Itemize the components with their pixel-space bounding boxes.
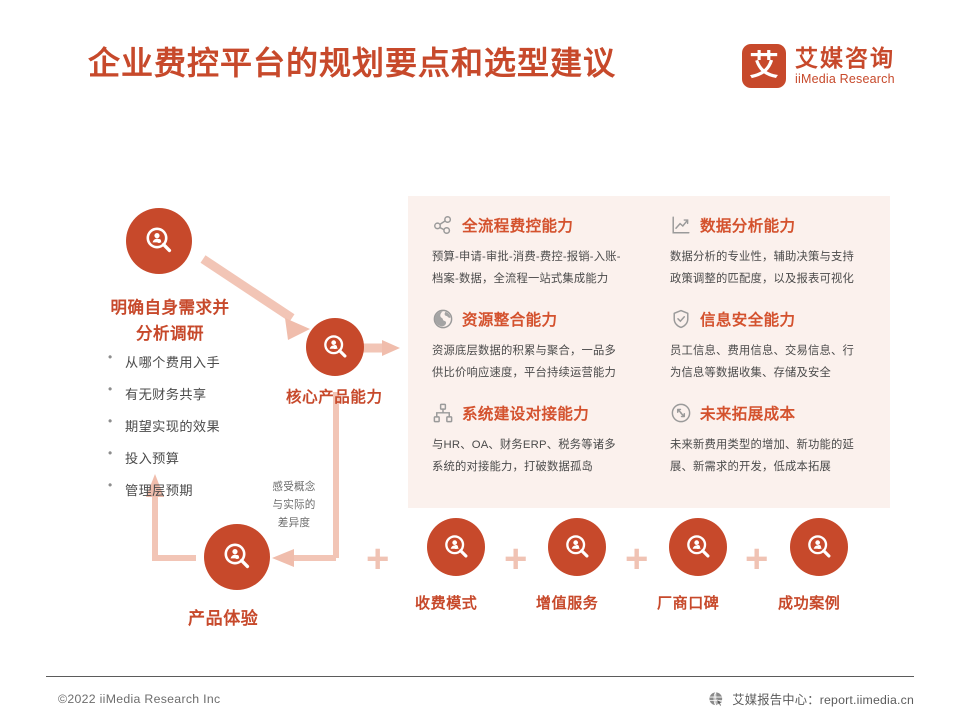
capability-body: 数据分析的专业性，辅助决策与支持 政策调整的匹配度，以及报表可视化	[670, 246, 888, 290]
list-item: 从哪个费用入手	[108, 352, 220, 371]
plus-separator-1: +	[366, 539, 389, 579]
footer-report-center[interactable]: 艾媒报告中心：report.iimedia.cn	[708, 690, 914, 708]
define-requirements-title: 明确自身需求并 分析调研	[72, 296, 268, 347]
magnifier-person-icon	[684, 533, 713, 562]
capability-body-line1: 未来新费用类型的增加、新功能的延	[670, 439, 854, 451]
logo-name-en: iiMedia Research	[795, 72, 895, 87]
node-label: 成功案例	[778, 592, 836, 613]
capability-body-line1: 数据分析的专业性，辅助决策与支持	[670, 251, 854, 263]
capability-body-line2: 系统的对接能力，打破数据孤岛	[432, 461, 593, 473]
capability-card-resource-integration: 资源整合能力 资源底层数据的积累与聚合，一品多 供比价响应速度，平台持续运营能力	[432, 308, 650, 384]
node-product-experience[interactable]: 产品体验	[204, 524, 270, 629]
node-circle	[126, 208, 192, 274]
define-requirements-title-line1: 明确自身需求并	[111, 299, 230, 317]
capability-title: 系统建设对接能力	[462, 402, 589, 424]
chart-line-icon	[670, 214, 692, 236]
node-circle	[204, 524, 270, 590]
logo-mark-icon: 艾	[742, 44, 786, 88]
capability-header: 信息安全能力	[670, 308, 888, 330]
share-nodes-icon	[432, 214, 454, 236]
feedback-note-line3: 差异度	[278, 517, 310, 529]
node-circle	[548, 518, 606, 576]
capability-body-line1: 员工信息、费用信息、交易信息、行	[670, 345, 854, 357]
magnifier-person-icon	[143, 225, 175, 257]
capability-card-information-security: 信息安全能力 员工信息、费用信息、交易信息、行 为信息等数据收集、存储及安全	[670, 308, 888, 384]
capability-title: 资源整合能力	[462, 308, 557, 330]
feedback-note-line2: 与实际的	[272, 499, 315, 511]
footer-report-center-text: 艾媒报告中心：report.iimedia.cn	[732, 690, 914, 708]
sitemap-icon	[432, 402, 454, 424]
capability-title: 全流程费控能力	[462, 214, 573, 236]
feedback-note: 感受概念 与实际的 差异度	[252, 478, 336, 532]
capability-title: 信息安全能力	[700, 308, 795, 330]
capability-body: 员工信息、费用信息、交易信息、行 为信息等数据收集、存储及安全	[670, 340, 888, 384]
expand-circle-icon	[670, 402, 692, 424]
list-item: 有无财务共享	[108, 384, 220, 403]
node-value-added-service[interactable]: 增值服务	[548, 518, 606, 613]
capability-body: 与HR、OA、财务ERP、税务等诸多 系统的对接能力，打破数据孤岛	[432, 434, 650, 478]
capability-body-line1: 资源底层数据的积累与聚合，一品多	[432, 345, 616, 357]
capability-card-system-integration: 系统建设对接能力 与HR、OA、财务ERP、税务等诸多 系统的对接能力，打破数据…	[432, 402, 650, 478]
capability-body: 预算-申请-审批-消费-费控-报销-入账- 档案-数据，全流程一站式集成能力	[432, 246, 650, 290]
capability-header: 资源整合能力	[432, 308, 650, 330]
node-core-product-capability[interactable]: 核心产品能力	[306, 318, 364, 407]
shield-check-icon	[670, 308, 692, 330]
node-label: 收费模式	[415, 592, 473, 613]
feedback-note-line1: 感受概念	[272, 481, 315, 493]
define-requirements-title-line2: 分析调研	[136, 325, 204, 343]
list-item: 投入预算	[108, 448, 220, 467]
node-circle	[306, 318, 364, 376]
capability-body-line2: 展、新需求的开发，低成本拓展	[670, 461, 831, 473]
capability-panel: 全流程费控能力 预算-申请-审批-消费-费控-报销-入账- 档案-数据，全流程一…	[408, 196, 890, 508]
capability-header: 系统建设对接能力	[432, 402, 650, 424]
capability-body-line1: 与HR、OA、财务ERP、税务等诸多	[432, 439, 616, 451]
footer-copyright: ©2022 iiMedia Research Inc	[58, 692, 220, 706]
globe-icon	[432, 308, 454, 330]
plus-separator-2: +	[504, 539, 527, 579]
infographic-canvas: 企业费控平台的规划要点和选型建议 艾 艾媒咨询 iiMedia Research	[0, 0, 960, 720]
page-title: 企业费控平台的规划要点和选型建议	[88, 44, 708, 82]
capability-body-line2: 为信息等数据收集、存储及安全	[670, 367, 831, 379]
capability-body-line2: 政策调整的匹配度，以及报表可视化	[670, 273, 854, 285]
magnifier-person-icon	[221, 541, 253, 573]
arrow-core-to-panel	[362, 340, 400, 356]
logo-text: 艾媒咨询 iiMedia Research	[795, 45, 895, 86]
capability-body: 资源底层数据的积累与聚合，一品多 供比价响应速度，平台持续运营能力	[432, 340, 650, 384]
footer-divider	[46, 676, 914, 677]
magnifier-person-icon	[442, 533, 471, 562]
magnifier-person-icon	[563, 533, 592, 562]
plus-separator-3: +	[625, 539, 648, 579]
node-label: 产品体验	[188, 604, 254, 629]
node-charging-model[interactable]: 收费模式	[427, 518, 485, 613]
list-item: 期望实现的效果	[108, 416, 220, 435]
requirements-bullet-list: 从哪个费用入手 有无财务共享 期望实现的效果 投入预算 管理层预期	[108, 352, 220, 512]
node-circle	[427, 518, 485, 576]
capability-header: 全流程费控能力	[432, 214, 650, 236]
node-define-requirements[interactable]	[126, 208, 192, 274]
capability-body-line2: 供比价响应速度，平台持续运营能力	[432, 367, 616, 379]
capability-card-data-analysis: 数据分析能力 数据分析的专业性，辅助决策与支持 政策调整的匹配度，以及报表可视化	[670, 214, 888, 290]
list-item: 管理层预期	[108, 480, 220, 499]
capability-body-line1: 预算-申请-审批-消费-费控-报销-入账-	[432, 251, 621, 263]
globe-cursor-icon	[708, 691, 725, 708]
node-label: 厂商口碑	[657, 592, 715, 613]
logo-name-cn: 艾媒咨询	[795, 45, 895, 71]
capability-card-future-expansion-cost: 未来拓展成本 未来新费用类型的增加、新功能的延 展、新需求的开发，低成本拓展	[670, 402, 888, 478]
capability-header: 未来拓展成本	[670, 402, 888, 424]
brand-logo: 艾 艾媒咨询 iiMedia Research	[742, 44, 895, 88]
plus-separator-4: +	[745, 539, 768, 579]
magnifier-person-icon	[321, 333, 350, 362]
node-success-cases[interactable]: 成功案例	[790, 518, 848, 613]
capability-title: 数据分析能力	[700, 214, 795, 236]
capability-card-full-process: 全流程费控能力 预算-申请-审批-消费-费控-报销-入账- 档案-数据，全流程一…	[432, 214, 650, 290]
capability-body: 未来新费用类型的增加、新功能的延 展、新需求的开发，低成本拓展	[670, 434, 888, 478]
node-circle	[790, 518, 848, 576]
magnifier-person-icon	[805, 533, 834, 562]
capability-title: 未来拓展成本	[700, 402, 795, 424]
capability-header: 数据分析能力	[670, 214, 888, 236]
node-vendor-reputation[interactable]: 厂商口碑	[669, 518, 727, 613]
node-label: 核心产品能力	[286, 385, 344, 407]
node-label: 增值服务	[536, 592, 594, 613]
capability-body-line2: 档案-数据，全流程一站式集成能力	[432, 273, 608, 285]
node-circle	[669, 518, 727, 576]
